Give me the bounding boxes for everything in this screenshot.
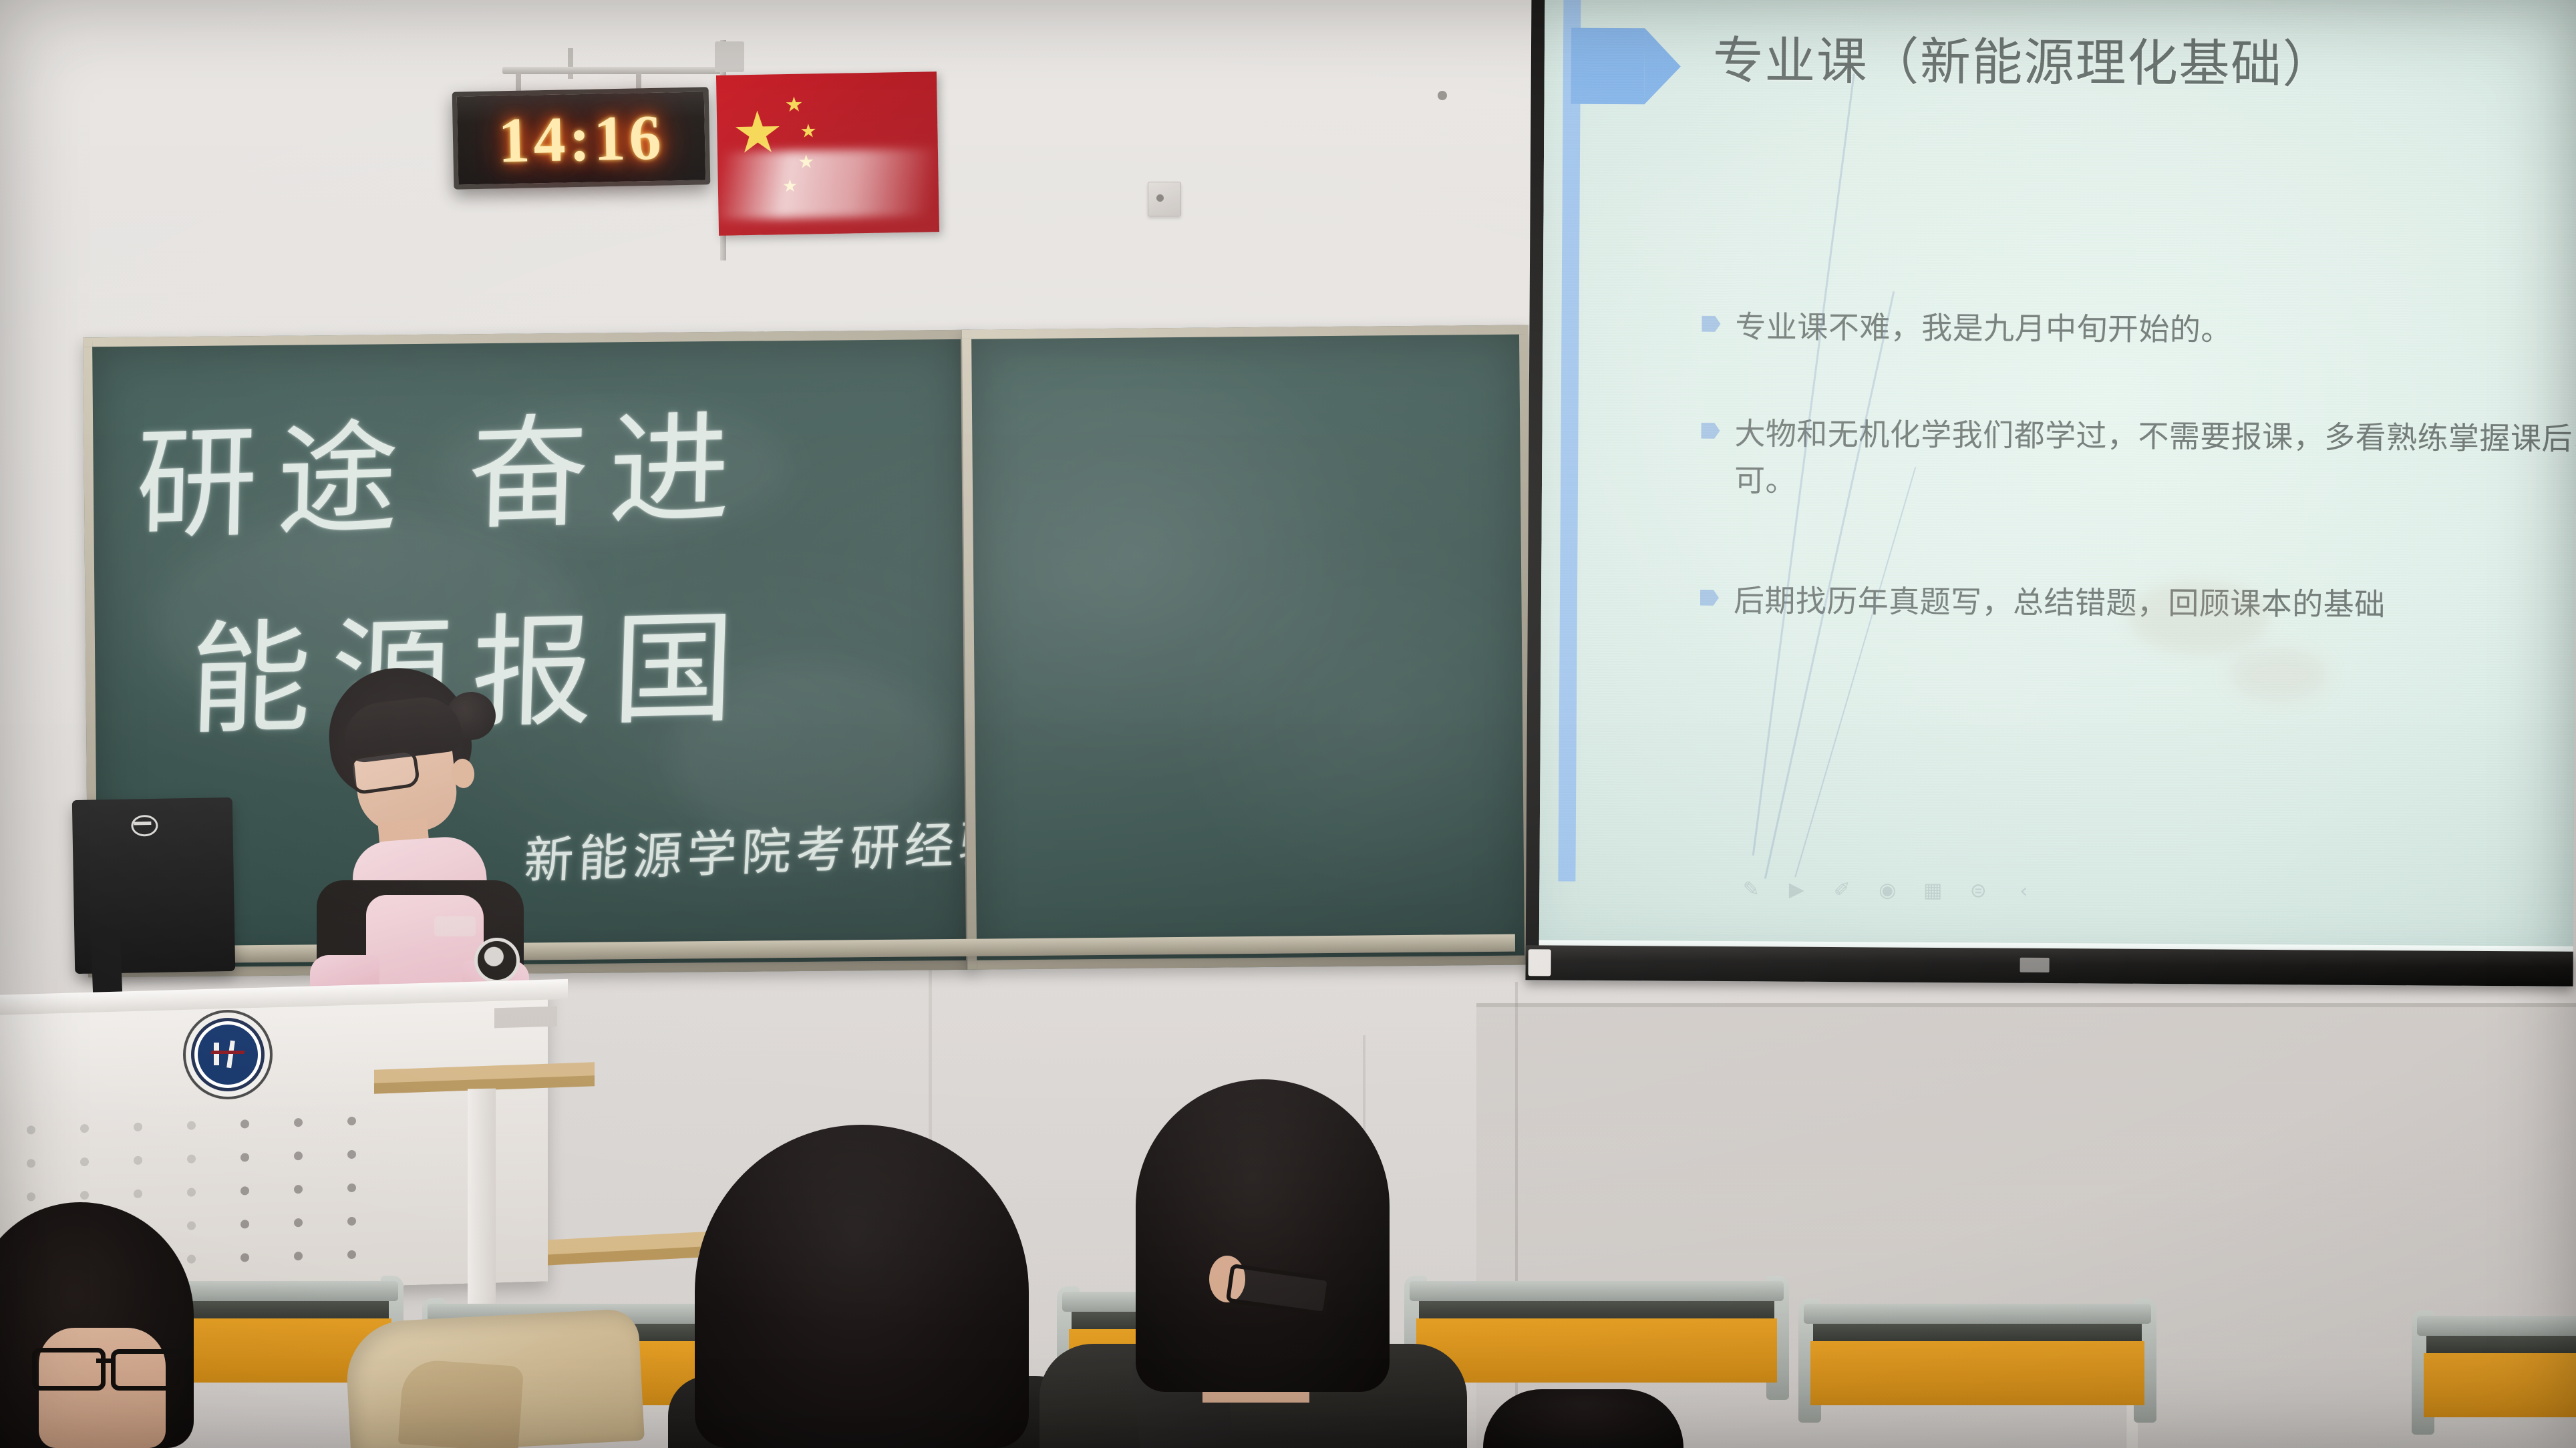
lectern-perforation <box>134 1156 142 1165</box>
bench-seat <box>1810 1341 2144 1405</box>
lectern-perforation <box>240 1253 249 1262</box>
lectern-perforation <box>294 1151 303 1160</box>
coat-fold <box>398 1359 524 1448</box>
flag-bracket <box>715 41 744 72</box>
lectern-perforation <box>294 1252 303 1260</box>
bench-gap <box>1419 1301 1774 1318</box>
lectern-perforation <box>80 1124 89 1133</box>
bracket-screw <box>1438 91 1447 100</box>
projection-screen: 专业课（新能源理化基础） 专业课不难，我是九月中旬开始的。 大物和无机化学我们都… <box>1525 0 2576 988</box>
lectern-perforation <box>347 1250 356 1259</box>
screen-texture <box>1539 0 2576 952</box>
clock-face: 14:16 <box>457 92 705 184</box>
lectern-perforation <box>187 1121 196 1129</box>
blackboard-headline-line1: 研途 奋进 <box>134 369 752 564</box>
bench-backrest <box>1804 1304 2151 1324</box>
crest-monogram <box>211 1043 245 1065</box>
monitor-brand-icon <box>131 815 158 837</box>
switch-indicator-icon <box>1156 194 1164 202</box>
lectern-perforation <box>240 1153 249 1161</box>
flag-small-star: ★ <box>784 94 803 115</box>
bench-gap <box>2426 1336 2576 1353</box>
lectern-perforation <box>187 1254 196 1263</box>
crest-stroke-accent <box>210 1051 245 1054</box>
lectern-perforation <box>80 1157 89 1166</box>
lectern-perforation <box>294 1118 303 1127</box>
lectern-perforation <box>347 1184 356 1192</box>
lectern-perforation <box>27 1192 35 1201</box>
lectern-perforation <box>347 1150 356 1159</box>
lectern-perforation <box>134 1190 142 1198</box>
audience-member-center-right <box>1136 1079 1390 1392</box>
chinese-national-flag: ★ ★ ★ ★ ★ <box>716 71 939 236</box>
lectern-perforation <box>347 1117 356 1125</box>
clock-time-display: 14:16 <box>497 100 665 177</box>
flag-glare <box>717 148 939 220</box>
audience-member-center <box>695 1125 1029 1448</box>
bench-gap <box>1813 1324 2142 1341</box>
university-crest <box>183 1010 273 1099</box>
bench-gap <box>167 1301 389 1318</box>
lectern-perforation <box>187 1221 196 1230</box>
bench-backrest <box>1410 1281 1784 1301</box>
student-presenter <box>294 668 534 1010</box>
audience-member-far-right <box>1483 1389 1683 1448</box>
jacket-chest-patch <box>434 916 476 936</box>
lectern-perforation <box>187 1154 196 1163</box>
lectern-perforation <box>240 1186 249 1195</box>
glasses-lens-right <box>111 1349 184 1391</box>
audience-glasses <box>32 1348 184 1383</box>
clock-hanger-arm <box>502 67 723 74</box>
lectern-perforation <box>347 1217 356 1226</box>
lecture-bench <box>1804 1304 2151 1448</box>
digital-wall-clock: 14:16 <box>452 87 711 189</box>
classroom-photo-scene: 14:16 ★ ★ ★ ★ ★ 研途 奋进 能源报国 新能源学院考研经验分享交流… <box>0 0 2576 1448</box>
monitor-brand-icon-bar <box>134 822 151 825</box>
bench-backrest <box>2417 1316 2576 1336</box>
flag-small-star: ★ <box>800 122 817 140</box>
lectern-perforation <box>134 1123 142 1131</box>
glasses-bridge <box>96 1359 112 1363</box>
lectern-side-lip <box>494 1007 557 1029</box>
blackboard-panel-right <box>962 325 1534 969</box>
screen-bar-end-cap <box>1528 949 1551 976</box>
glasses-lens-left <box>32 1348 106 1391</box>
lectern-perforation <box>80 1191 89 1200</box>
bench-seat <box>2424 1353 2576 1417</box>
lectern-perforation <box>27 1159 35 1167</box>
clock-mount <box>568 48 573 79</box>
side-desk-leg <box>468 1089 496 1310</box>
bench-seat <box>1416 1318 1777 1383</box>
lectern-perforation <box>240 1220 249 1228</box>
lectern-perforation <box>240 1119 249 1128</box>
lectern-perforation <box>187 1188 196 1196</box>
crest-core <box>198 1025 258 1085</box>
wall-switch-plate[interactable] <box>1148 182 1181 216</box>
lectern-perforation <box>294 1185 303 1194</box>
lecture-bench <box>2417 1316 2576 1448</box>
jacket-shoulder-badge-icon <box>474 938 520 983</box>
screen-brand-label <box>2020 958 2050 972</box>
bench-backrest <box>158 1281 398 1301</box>
lectern-perforation <box>294 1218 303 1227</box>
lectern-perforation <box>27 1125 35 1134</box>
